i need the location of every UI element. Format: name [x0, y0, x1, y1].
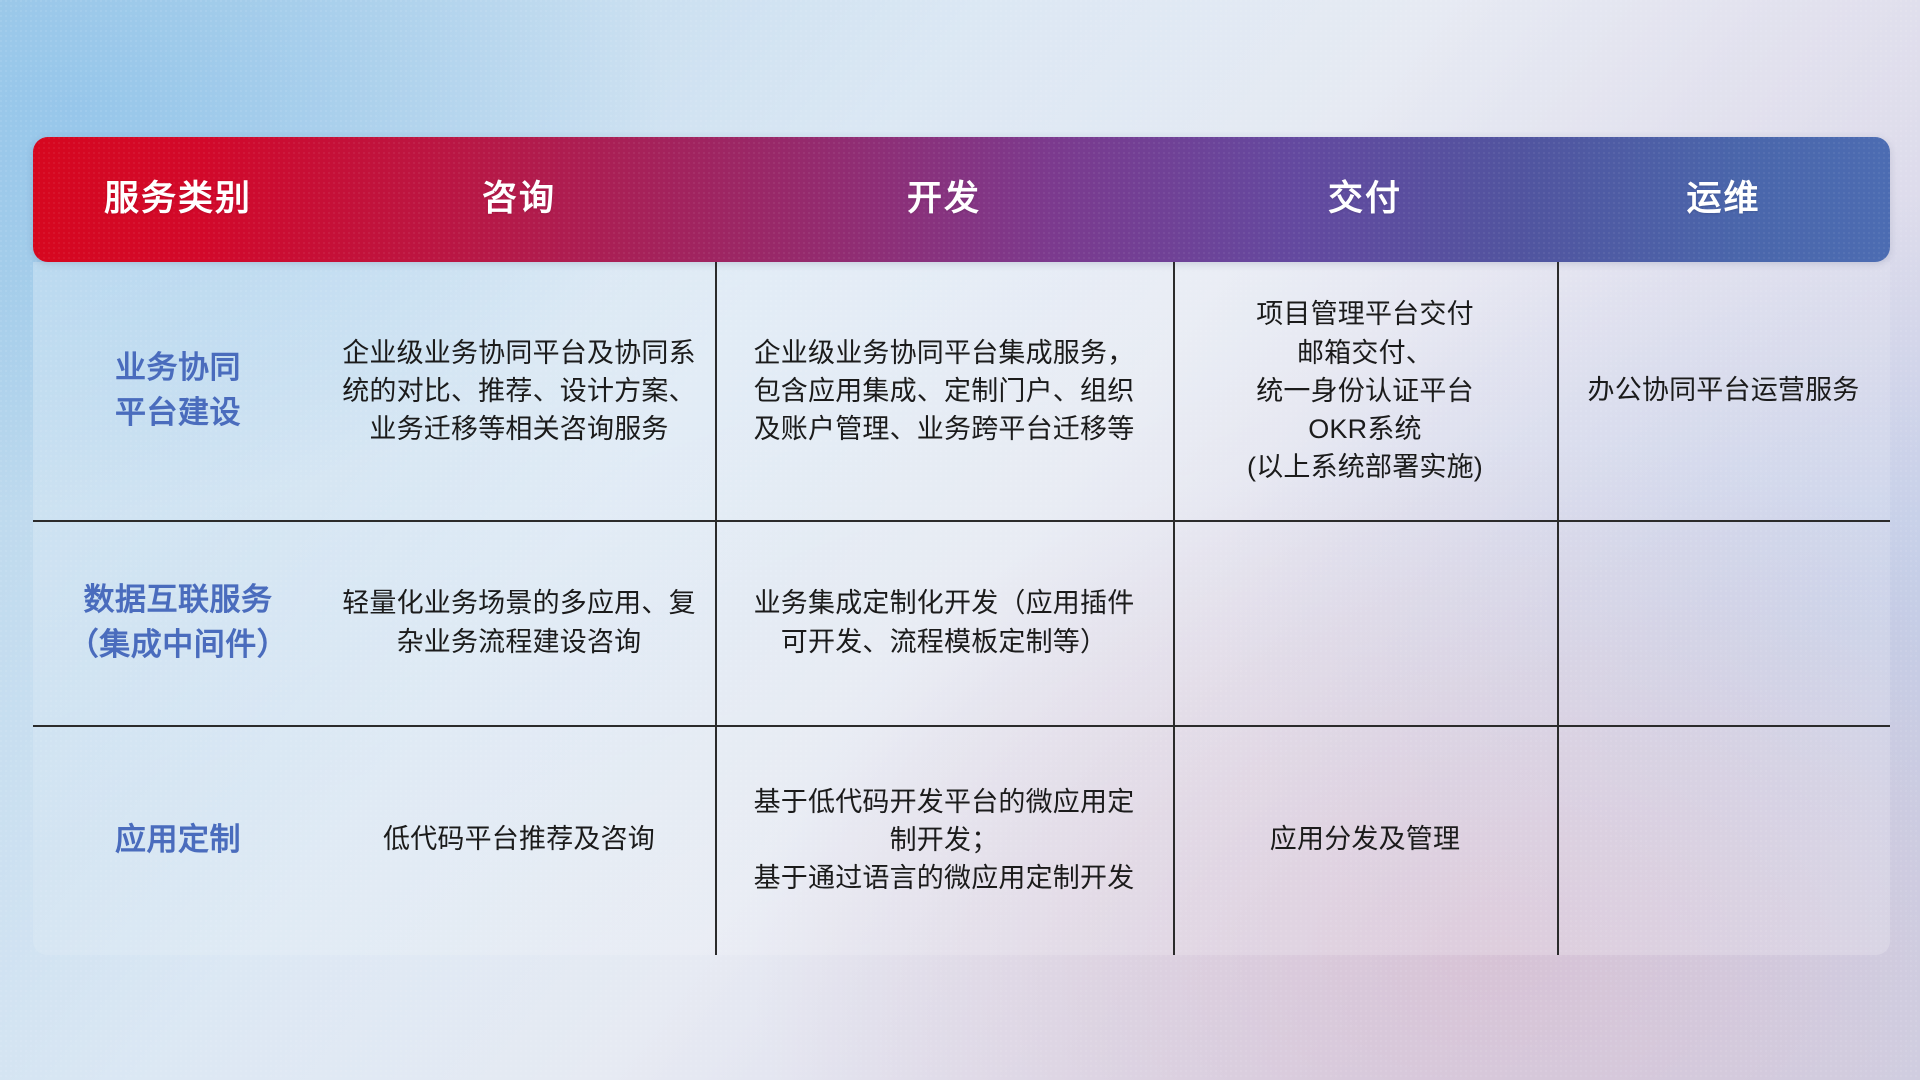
table-row: 数据互联服务 （集成中间件） [33, 520, 323, 725]
column-header-development: 开发 [715, 180, 1173, 219]
cell-delivery-row2 [1173, 520, 1557, 725]
cell-operations-row2 [1557, 520, 1890, 725]
cell-text-delivery-row3: 应用分发及管理 [1270, 821, 1460, 859]
column-header-operations: 运维 [1557, 180, 1890, 219]
cell-development-row3: 基于低代码开发平台的微应用定 制开发； 基于通过语言的微应用定制开发 [715, 725, 1173, 955]
cell-development-row1: 企业级业务协同平台集成服务， 包含应用集成、定制门户、组织 及账户管理、业务跨平… [715, 262, 1173, 520]
table-header-row: 服务类别 咨询 开发 交付 运维 [33, 137, 1890, 262]
cell-text-consulting-row3: 低代码平台推荐及咨询 [383, 821, 655, 859]
column-header-delivery: 交付 [1173, 180, 1557, 219]
cell-consulting-row3: 低代码平台推荐及咨询 [323, 725, 715, 955]
service-matrix-table: 服务类别 咨询 开发 交付 运维 业务协同 平台建设 企业级业务协同平台及协同系… [33, 137, 1890, 955]
table-row: 应用定制 [33, 725, 323, 955]
cell-development-row2: 业务集成定制化开发（应用插件 可开发、流程模板定制等） [715, 520, 1173, 725]
column-header-consulting: 咨询 [323, 180, 715, 219]
cell-operations-row1: 办公协同平台运营服务 [1557, 262, 1890, 520]
table-row: 业务协同 平台建设 [33, 262, 323, 520]
column-header-category: 服务类别 [33, 180, 323, 219]
cell-text-development-row1: 企业级业务协同平台集成服务， 包含应用集成、定制门户、组织 及账户管理、业务跨平… [754, 334, 1135, 449]
cell-text-operations-row1: 办公协同平台运营服务 [1588, 372, 1860, 410]
row-label-data-interconnect-service: 数据互联服务 （集成中间件） [68, 578, 289, 668]
cell-delivery-row1: 项目管理平台交付 邮箱交付、 统一身份认证平台 OKR系统 (以上系统部署实施) [1173, 262, 1557, 520]
row-label-business-collaboration: 业务协同 平台建设 [115, 346, 241, 436]
table-body: 业务协同 平台建设 企业级业务协同平台及协同系 统的对比、推荐、设计方案、 业务… [33, 262, 1890, 955]
cell-text-development-row3: 基于低代码开发平台的微应用定 制开发； 基于通过语言的微应用定制开发 [754, 783, 1135, 898]
cell-delivery-row3: 应用分发及管理 [1173, 725, 1557, 955]
cell-consulting-row1: 企业级业务协同平台及协同系 统的对比、推荐、设计方案、 业务迁移等相关咨询服务 [323, 262, 715, 520]
cell-text-consulting-row2: 轻量化业务场景的多应用、复 杂业务流程建设咨询 [342, 584, 696, 661]
cell-consulting-row2: 轻量化业务场景的多应用、复 杂业务流程建设咨询 [323, 520, 715, 725]
cell-text-development-row2: 业务集成定制化开发（应用插件 可开发、流程模板定制等） [754, 584, 1135, 661]
row-label-application-customization: 应用定制 [115, 818, 241, 863]
cell-text-consulting-row1: 企业级业务协同平台及协同系 统的对比、推荐、设计方案、 业务迁移等相关咨询服务 [342, 334, 696, 449]
cell-operations-row3 [1557, 725, 1890, 955]
cell-text-delivery-row1: 项目管理平台交付 邮箱交付、 统一身份认证平台 OKR系统 (以上系统部署实施) [1247, 295, 1483, 487]
